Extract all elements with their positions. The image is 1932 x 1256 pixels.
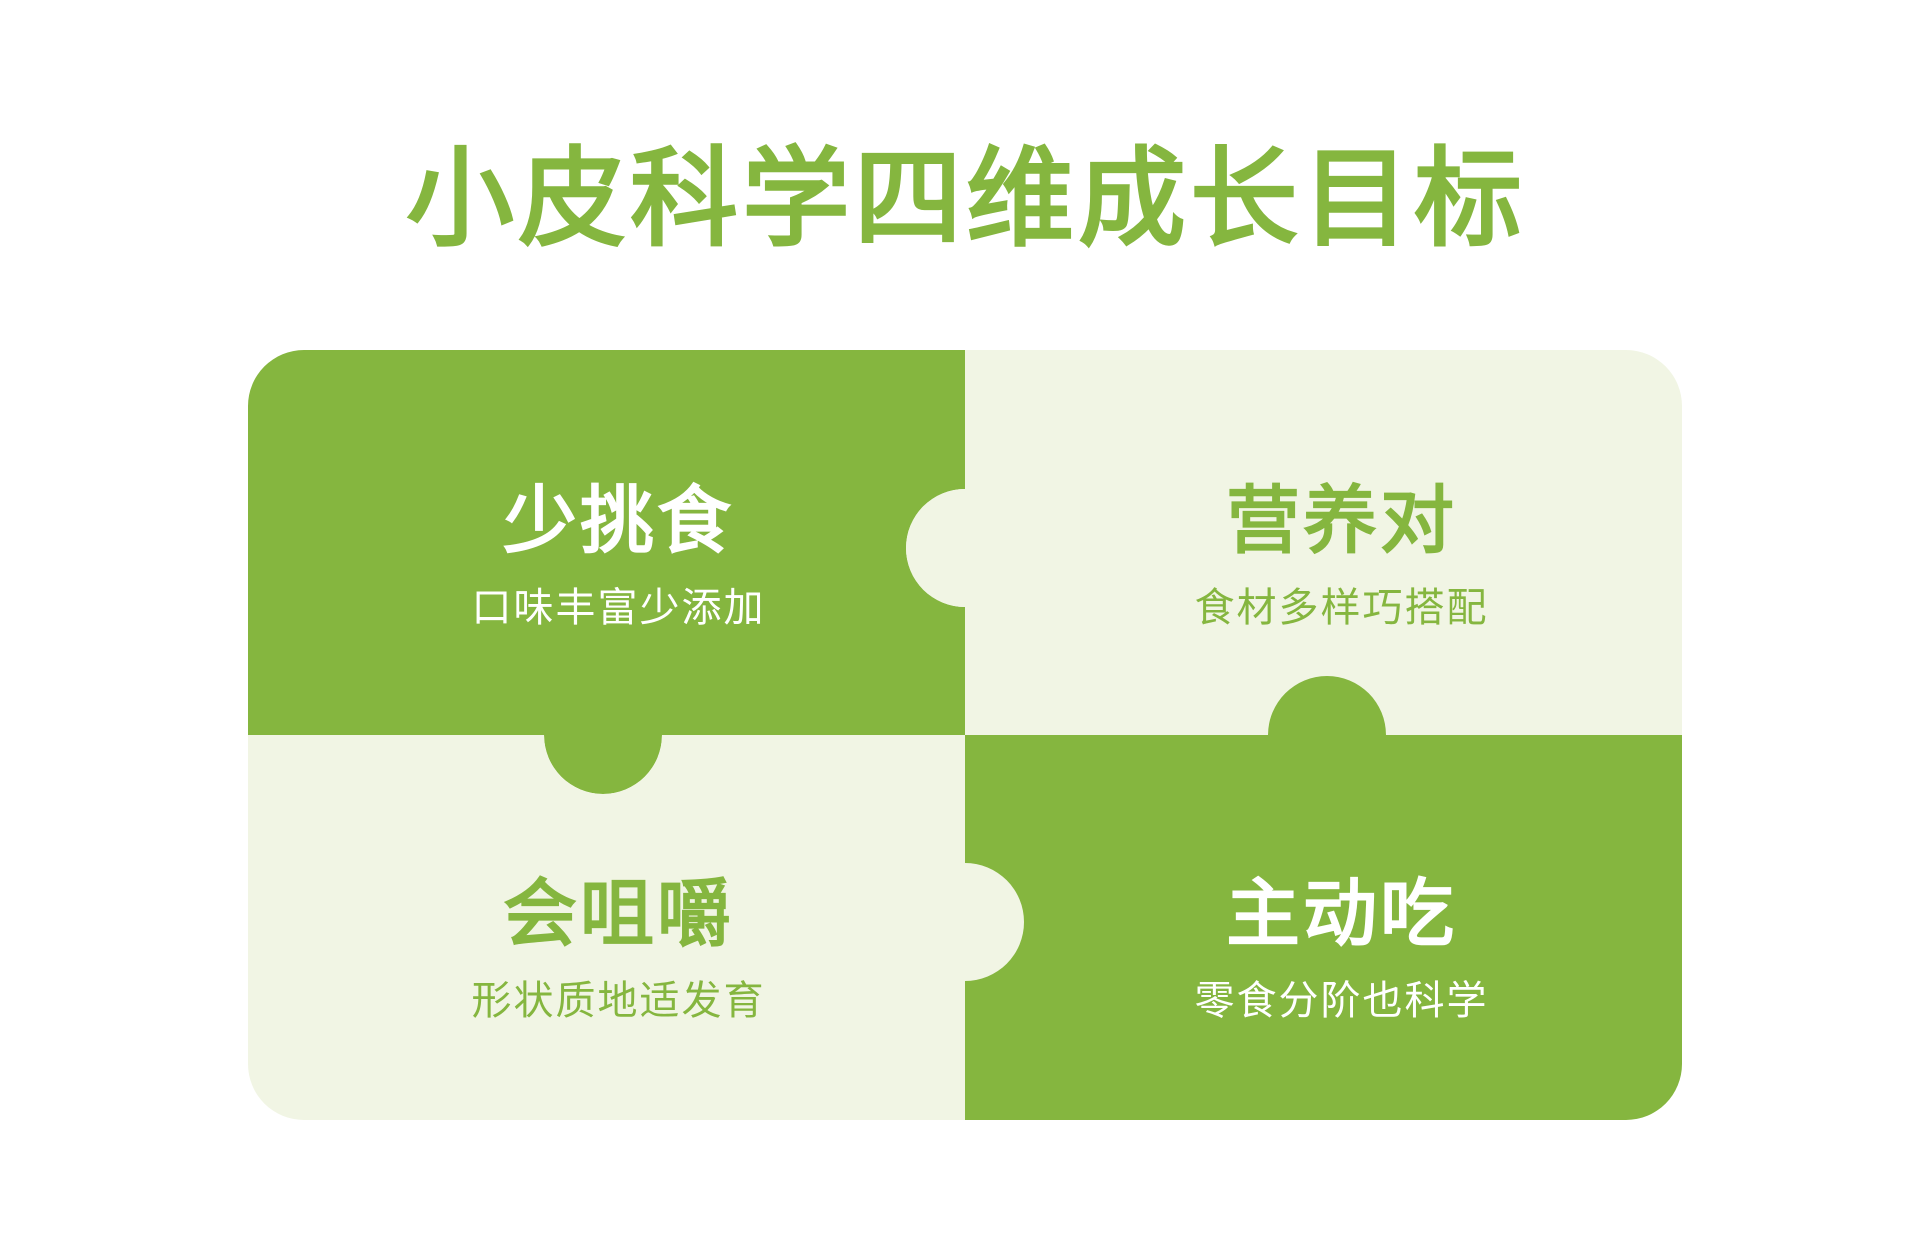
puzzle-diagram: 少挑食 口味丰富少添加 营养对 食材多样巧搭配 会咀嚼 形状质地适发育 主动吃 … [248,350,1682,1120]
puzzle-piece-top-right[interactable] [906,350,1682,735]
puzzle-piece-bottom-left[interactable] [248,735,1024,1120]
puzzle-piece-top-left[interactable] [248,350,965,794]
puzzle-shapes [248,350,1682,1120]
page-title: 小皮科学四维成长目标 [0,140,1932,258]
infographic-root: 小皮科学四维成长目标 少挑食 口味丰富少添加 营养对 食材多样巧搭配 [0,0,1932,1256]
puzzle-piece-bottom-right[interactable] [965,676,1682,1120]
